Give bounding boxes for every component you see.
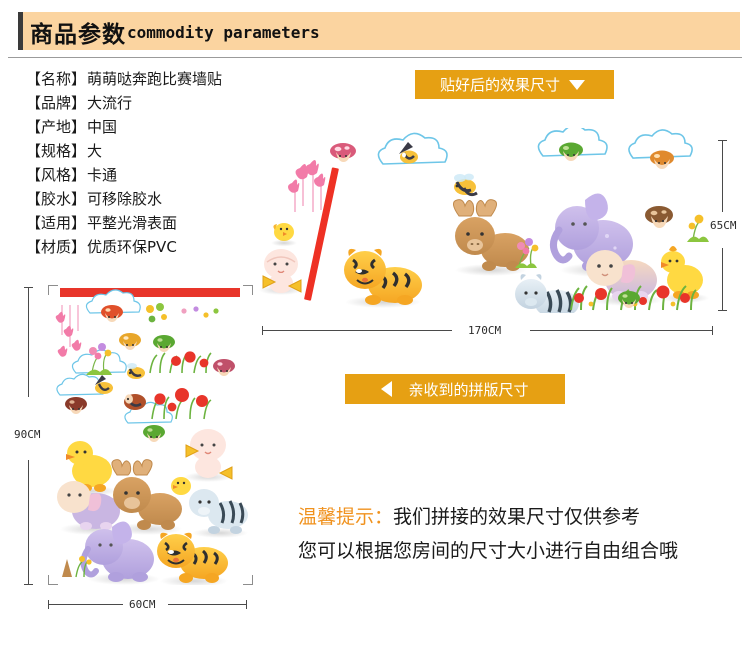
- measure-cap-sheet-left: [48, 600, 49, 609]
- measure-line-effect-height-bottom: [722, 248, 723, 310]
- spec-key: 【适用】: [26, 212, 86, 233]
- measure-cap-bottom: [718, 310, 727, 311]
- banner-effect-label: 贴好后的效果尺寸: [440, 74, 560, 95]
- tip-highlight: 温馨提示：: [298, 506, 393, 528]
- spec-value: 中国: [87, 116, 117, 137]
- banner-effect-size[interactable]: 贴好后的效果尺寸: [415, 70, 614, 99]
- measure-cap-sheet-right: [246, 600, 247, 609]
- spec-key: 【产地】: [26, 116, 86, 137]
- measure-line-effect-height-top: [722, 140, 723, 212]
- page-title-cn: 商品参数: [30, 15, 126, 49]
- tip-line-2: 您可以根据您房间的尺寸大小进行自由组合哦: [298, 534, 718, 568]
- measure-cap-left: [262, 326, 263, 335]
- spec-value: 萌萌哒奔跑比赛墙贴: [87, 68, 222, 89]
- page-root: 商品参数 commodity parameters 【名称】 萌萌哒奔跑比赛墙贴…: [0, 0, 750, 645]
- spec-key: 【规格】: [26, 140, 86, 161]
- header-divider: [8, 57, 742, 58]
- wall-decal-sheet-preview: [48, 285, 253, 585]
- measure-label-effect-height: 65CM: [710, 219, 737, 232]
- measure-line-sheet-width-left: [48, 604, 123, 605]
- spec-row: 【品牌】 大流行: [26, 90, 326, 114]
- spec-value: 卡通: [87, 164, 117, 185]
- measure-line-sheet-height-bottom: [28, 460, 29, 584]
- spec-key: 【胶水】: [26, 188, 86, 209]
- spec-value: 可移除胶水: [87, 188, 162, 209]
- spec-key: 【风格】: [26, 164, 86, 185]
- spec-value: 大: [87, 140, 102, 161]
- measure-line-sheet-width-right: [168, 604, 246, 605]
- spec-row: 【名称】 萌萌哒奔跑比赛墙贴: [26, 66, 326, 90]
- measure-line-effect-width-right: [530, 330, 712, 331]
- spec-key: 【名称】: [26, 68, 86, 89]
- measure-line-sheet-height-top: [28, 287, 29, 397]
- measure-cap-sheet-bottom: [24, 584, 33, 585]
- triangle-down-icon: [569, 80, 585, 90]
- measure-label-effect-width: 170CM: [468, 324, 501, 337]
- tip-text-1: 我们拼接的效果尺寸仅供参考: [393, 506, 640, 528]
- tip-line-1: 温馨提示：我们拼接的效果尺寸仅供参考: [298, 500, 718, 534]
- measure-cap-right: [712, 326, 713, 335]
- tip-block: 温馨提示：我们拼接的效果尺寸仅供参考 您可以根据您房间的尺寸大小进行自由组合哦: [298, 500, 718, 568]
- page-title: 商品参数 commodity parameters: [30, 14, 320, 50]
- banner-received-label: 亲收到的拼版尺寸: [408, 379, 528, 400]
- spec-value: 大流行: [87, 92, 132, 113]
- page-title-en: commodity parameters: [127, 23, 320, 42]
- spec-key: 【品牌】: [26, 92, 86, 113]
- spec-value: 优质环保PVC: [87, 236, 177, 257]
- measure-cap-top: [718, 140, 727, 141]
- measure-label-sheet-height: 90CM: [14, 428, 41, 441]
- measure-label-sheet-width: 60CM: [129, 598, 156, 611]
- triangle-left-icon: [381, 381, 392, 397]
- banner-received-size[interactable]: 亲收到的拼版尺寸: [345, 374, 565, 404]
- measure-line-effect-width-left: [262, 330, 452, 331]
- spec-key: 【材质】: [26, 236, 86, 257]
- header-left-accent-bar: [18, 12, 23, 50]
- measure-cap-sheet-top: [24, 287, 33, 288]
- spec-value: 平整光滑表面: [87, 212, 177, 233]
